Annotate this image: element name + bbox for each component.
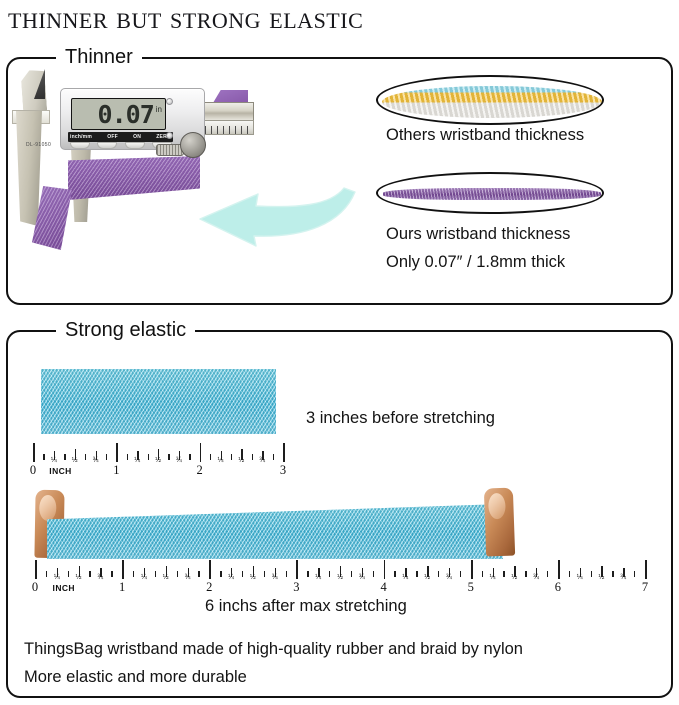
ruler-fraction-label: ½ xyxy=(238,457,244,464)
ruler-label-inch: 3 xyxy=(280,463,286,478)
ruler-tick-sub xyxy=(547,571,548,577)
ruler-fraction-label: ¾ xyxy=(446,574,452,581)
ruler-fraction-label: ¼ xyxy=(51,457,57,464)
ruler-tick-sub xyxy=(438,571,439,577)
caliper-lock-wheel xyxy=(180,132,206,158)
caliper-body-marking: DL-91050 xyxy=(26,142,51,149)
ruler-tick-sub xyxy=(329,571,330,577)
purple-band-measured xyxy=(68,156,200,200)
ruler-fraction-label: ¾ xyxy=(93,457,99,464)
ruler-fraction-label: ¾ xyxy=(185,574,191,581)
ruler-fraction-label: ½ xyxy=(424,574,430,581)
ruler-tick-sub xyxy=(242,571,243,577)
ruler-tick-whole xyxy=(296,560,298,579)
ruler-tick-whole xyxy=(384,560,386,579)
ruler-tick-sub xyxy=(286,571,287,577)
ruler-tick-sub xyxy=(264,571,265,577)
ruler-tick-whole xyxy=(35,560,37,579)
ruler-fraction-label: ¾ xyxy=(176,457,182,464)
ruler-tick-sub xyxy=(210,454,211,460)
ruler-label-inch: 3 xyxy=(293,580,299,595)
ruler-label-inch: 0 xyxy=(30,463,36,478)
others-thickness-caption: Others wristband thickness xyxy=(386,126,584,145)
ruler-tick-sub xyxy=(43,454,44,460)
ruler-fraction-label: ¼ xyxy=(134,457,140,464)
ruler-tick-sub xyxy=(85,454,86,460)
ruler-fraction-label: ¾ xyxy=(272,574,278,581)
ruler-fraction-label: ½ xyxy=(250,574,256,581)
ruler-unit-label: INCH xyxy=(49,466,71,476)
ruler-tick-sub xyxy=(220,571,221,577)
ruler-fraction-label: ¾ xyxy=(359,574,365,581)
ruler-fraction-label: ¾ xyxy=(259,457,265,464)
caliper-screw-top xyxy=(166,98,173,105)
caliper-button-inchmm: inch/mm xyxy=(70,134,92,140)
ruler-tick-sub xyxy=(460,571,461,577)
ruler-label-inch: 0 xyxy=(32,580,38,595)
ruler-tick-sub xyxy=(111,571,112,577)
ruler-label-inch: 7 xyxy=(642,580,648,595)
description-line-2: More elastic and more durable xyxy=(24,668,247,687)
description-line-1: ThingsBag wristband made of high-quality… xyxy=(24,640,523,659)
section-elastic-label: Strong elastic xyxy=(56,320,195,340)
ruler-fraction-label: ¾ xyxy=(533,574,539,581)
ours-thickness-ellipse xyxy=(376,172,604,214)
ruler-tick-sub xyxy=(168,454,169,460)
ruler-tick-sub xyxy=(68,571,69,577)
ruler-tick-whole xyxy=(200,443,202,462)
ruler-fraction-label: ¼ xyxy=(402,574,408,581)
ours-band-cross-section xyxy=(383,188,601,200)
ruler-tick-whole xyxy=(471,560,473,579)
caliper-measurement-value: 0.07 xyxy=(98,102,154,127)
ruler-tick-whole xyxy=(558,560,560,579)
pointer-arrow-icon xyxy=(192,186,357,248)
ruler-tick-sub xyxy=(273,454,274,460)
ruler-tick-whole xyxy=(645,560,647,579)
ruler-long: 0¼½¾1¼½¾2¼½¾3¼½¾4¼½¾5¼½¾6¼½¾7INCH xyxy=(35,557,645,593)
ruler-tick-sub xyxy=(416,571,417,577)
ruler-fraction-label: ¼ xyxy=(228,574,234,581)
ruler-label-inch: 2 xyxy=(206,580,212,595)
ruler-tick-whole xyxy=(122,560,124,579)
ruler-tick-sub xyxy=(177,571,178,577)
ours-thickness-caption: Ours wristband thickness xyxy=(386,225,570,244)
ruler-fraction-label: ½ xyxy=(599,574,605,581)
ruler-label-inch: 2 xyxy=(197,463,203,478)
finger-right xyxy=(484,488,515,557)
others-band-cross-section xyxy=(382,86,602,118)
caliper-lcd-display: 0.07 in xyxy=(71,98,166,130)
ruler-fraction-label: ¼ xyxy=(490,574,496,581)
ruler-tick-sub xyxy=(155,571,156,577)
ruler-tick-sub xyxy=(503,571,504,577)
caliper-screw-bottom xyxy=(166,132,173,139)
ruler-tick-whole xyxy=(116,443,118,462)
ruler-tick-sub xyxy=(569,571,570,577)
ruler-label-inch: 1 xyxy=(119,580,125,595)
ruler-label-inch: 5 xyxy=(468,580,474,595)
caliper-keycap-1 xyxy=(70,142,90,149)
ruler-tick-sub xyxy=(106,454,107,460)
page-title: Thinner but strong elastic xyxy=(8,0,668,38)
ruler-tick-whole xyxy=(33,443,35,462)
ruler-tick-sub xyxy=(634,571,635,577)
caliper-button-labels: inch/mm OFF ON ZERO xyxy=(68,132,173,142)
wristband-unstretched xyxy=(41,369,276,434)
ruler-fraction-label: ½ xyxy=(155,457,161,464)
ruler-tick-sub xyxy=(482,571,483,577)
caliper-keycap-2 xyxy=(97,142,117,149)
ruler-tick-whole xyxy=(209,560,211,579)
ruler-fraction-label: ½ xyxy=(76,574,82,581)
caliper-left-jaw xyxy=(16,111,42,226)
ruler-fraction-label: ½ xyxy=(72,457,78,464)
caliper-button-off: OFF xyxy=(107,134,118,140)
caliper-measurement-unit: in xyxy=(156,105,162,114)
ruler-tick-whole xyxy=(283,443,285,462)
ruler-label-inch: 6 xyxy=(555,580,561,595)
ruler-tick-sub xyxy=(64,454,65,460)
ruler-tick-sub xyxy=(231,454,232,460)
ruler-short: 0¼½¾1¼½¾2¼½¾3INCH xyxy=(33,440,283,476)
ruler-tick-sub xyxy=(46,571,47,577)
ours-thickness-detail: Only 0.07″ / 1.8mm thick xyxy=(386,253,565,272)
before-stretching-caption: 3 inches before stretching xyxy=(306,409,495,428)
ruler-tick-sub xyxy=(127,454,128,460)
ruler-tick-sub xyxy=(373,571,374,577)
ruler-fraction-label: ¾ xyxy=(620,574,626,581)
ruler-tick-sub xyxy=(394,571,395,577)
ruler-tick-sub xyxy=(89,571,90,577)
ruler-tick-sub xyxy=(148,454,149,460)
ruler-label-inch: 4 xyxy=(380,580,386,595)
ruler-fraction-label: ½ xyxy=(337,574,343,581)
ruler-label-inch: 1 xyxy=(113,463,119,478)
others-thickness-ellipse xyxy=(376,75,604,125)
ruler-fraction-label: ¼ xyxy=(577,574,583,581)
ruler-tick-sub xyxy=(189,454,190,460)
ruler-fraction-label: ¼ xyxy=(315,574,321,581)
ruler-tick-sub xyxy=(252,454,253,460)
caliper-keycap-3 xyxy=(125,142,145,149)
ruler-fraction-label: ¾ xyxy=(97,574,103,581)
ruler-unit-label: INCH xyxy=(53,583,75,593)
caliper-button-on: ON xyxy=(133,134,141,140)
ruler-tick-sub xyxy=(351,571,352,577)
ruler-fraction-label: ¼ xyxy=(218,457,224,464)
ruler-fraction-label: ¼ xyxy=(141,574,147,581)
ruler-tick-sub xyxy=(612,571,613,577)
ruler-tick-sub xyxy=(307,571,308,577)
ruler-tick-sub xyxy=(525,571,526,577)
ruler-tick-sub xyxy=(591,571,592,577)
ruler-tick-sub xyxy=(198,571,199,577)
ruler-fraction-label: ½ xyxy=(163,574,169,581)
section-thinner-label: Thinner xyxy=(56,47,142,67)
ruler-tick-sub xyxy=(133,571,134,577)
ruler-fraction-label: ½ xyxy=(511,574,517,581)
ruler-fraction-label: ¼ xyxy=(54,574,60,581)
after-stretching-caption: 6 inchs after max stretching xyxy=(205,597,407,616)
